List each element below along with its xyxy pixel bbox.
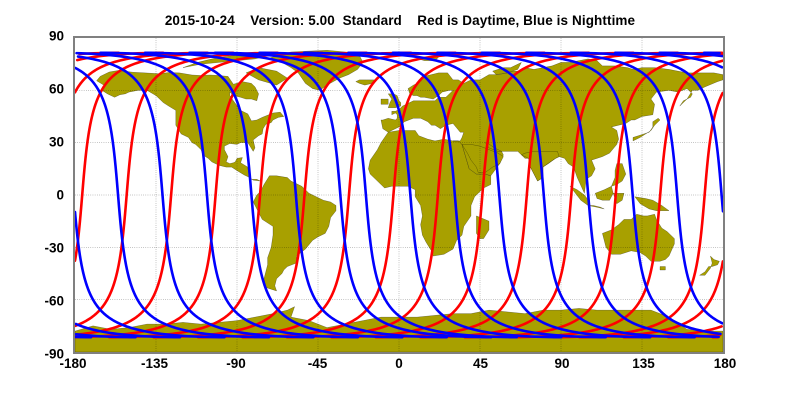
y-tick-label: 0 <box>4 188 64 203</box>
chart-title: 2015-10-24 Version: 5.00 Standard Red is… <box>0 13 800 28</box>
x-tick-label: -180 <box>33 356 113 371</box>
x-tick-label: 180 <box>685 356 765 371</box>
x-tick-label: -135 <box>115 356 195 371</box>
plot-area <box>73 36 725 354</box>
landmass <box>381 99 388 104</box>
y-tick-label: 90 <box>4 29 64 44</box>
x-tick-label: 0 <box>359 356 439 371</box>
landmass <box>700 256 720 275</box>
nighttime-groundtrack <box>75 212 224 337</box>
y-tick-label: 60 <box>4 82 64 97</box>
x-tick-label: 90 <box>522 356 602 371</box>
x-tick-label: -90 <box>196 356 276 371</box>
landmass <box>595 186 613 200</box>
groundtrack-svg <box>75 38 723 352</box>
landmass <box>633 118 660 141</box>
x-tick-label: 135 <box>604 356 684 371</box>
x-tick-label: 45 <box>441 356 521 371</box>
landmass <box>97 70 284 181</box>
x-tick-label: -45 <box>278 356 358 371</box>
y-tick-label: 30 <box>4 135 64 150</box>
y-tick-label: -30 <box>4 241 64 256</box>
y-tick-label: -60 <box>4 294 64 309</box>
satellite-groundtrack-figure: 2015-10-24 Version: 5.00 Standard Red is… <box>0 0 800 400</box>
landmass <box>660 267 665 270</box>
landmass <box>635 197 669 211</box>
